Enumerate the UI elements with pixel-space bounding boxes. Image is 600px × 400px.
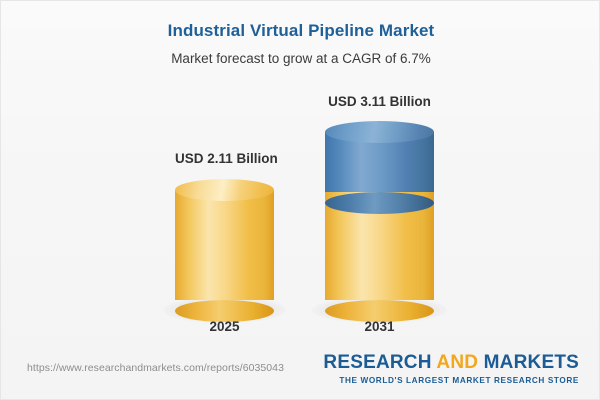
cylinder-segment-base-2025: [175, 179, 274, 311]
cylinder-top-cap-2025: [175, 179, 274, 201]
cylinder-body-2025: [175, 190, 274, 300]
brand-word-and: AND: [436, 352, 478, 373]
brand-wordmark: RESEARCH AND MARKETS: [323, 353, 579, 372]
cylinder-segment-growth-2031: [325, 121, 434, 203]
brand-word-markets: MARKETS: [478, 352, 579, 373]
brand-word-research: RESEARCH: [323, 352, 436, 373]
cylinder-growth-bottom-cap-2031: [325, 192, 434, 214]
infographic-card: Industrial Virtual Pipeline Market Marke…: [0, 0, 600, 400]
cylinder-top-cap-2031: [325, 121, 434, 143]
report-url[interactable]: https://www.researchandmarkets.com/repor…: [27, 362, 284, 374]
category-label-2031: 2031: [325, 319, 434, 334]
bar-group-2025: USD 2.11 Billion 2025: [175, 1, 274, 346]
value-label-2025: USD 2.11 Billion: [175, 151, 274, 166]
value-label-2031: USD 3.11 Billion: [325, 94, 434, 109]
cylinder-2025: [175, 179, 274, 311]
footer: https://www.researchandmarkets.com/repor…: [1, 344, 600, 399]
bar-group-2031: USD 3.11 Billion 2031: [325, 1, 434, 346]
brand-logo: RESEARCH AND MARKETS THE WORLD'S LARGEST…: [323, 353, 579, 385]
brand-tagline: THE WORLD'S LARGEST MARKET RESEARCH STOR…: [323, 377, 579, 385]
cylinder-2031: [325, 121, 434, 311]
chart-plot-area: USD 2.11 Billion 2025 USD 3.11 Billion: [1, 1, 600, 346]
category-label-2025: 2025: [175, 319, 274, 334]
